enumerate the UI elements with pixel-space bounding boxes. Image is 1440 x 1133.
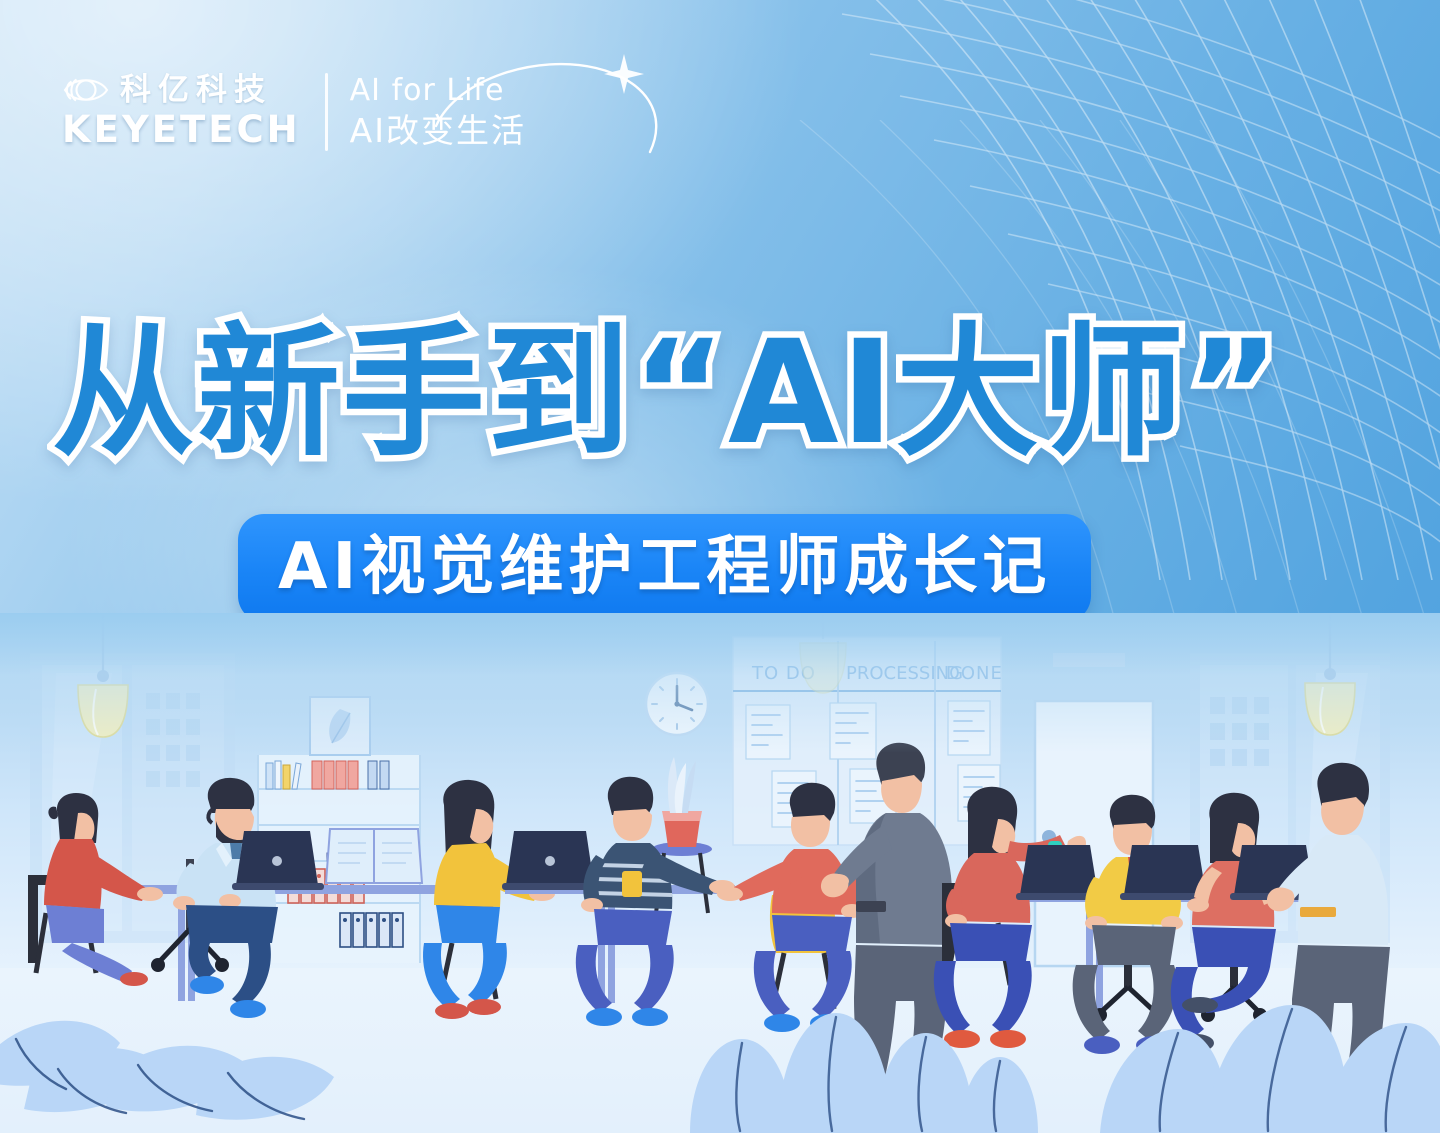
logo-divider (325, 73, 328, 151)
sparkle-icon (604, 54, 644, 94)
kanban-board: TO DO PROCESSING DONE (733, 637, 1003, 845)
logo-left-group: 科亿科技 KEYETECH (62, 73, 301, 151)
eye-lens-icon (62, 73, 110, 107)
logo-company-en: KEYETECH (62, 109, 301, 151)
page-title: 从新手到“AI大师” (52, 318, 1392, 468)
poster-root: 科亿科技 KEYETECH AI for Life AI改变生活 从新手到“AI… (0, 0, 1440, 1133)
svg-text:DONE: DONE (946, 663, 1003, 684)
subtitle-text: AI视觉维护工程师成长记 (278, 530, 1051, 604)
subtitle-banner-wrap: AI视觉维护工程师成长记 (238, 514, 1091, 622)
shelf-books-top (266, 761, 389, 789)
logo-tagline-cn: AI改变生活 (350, 110, 526, 152)
logo-company-cn: 科亿科技 (120, 73, 272, 107)
logo-tagline-group: AI for Life AI改变生活 (350, 72, 526, 152)
mesh-grid-decoration (690, 0, 1440, 580)
subtitle-banner: AI视觉维护工程师成长记 (238, 514, 1091, 622)
laptop-left-1 (232, 831, 324, 890)
open-book-left-desk (326, 829, 422, 883)
logo-top-row: 科亿科技 (62, 73, 301, 107)
logo-tagline-en: AI for Life (350, 72, 526, 110)
wall-clock-main (646, 673, 708, 735)
brand-logo[interactable]: 科亿科技 KEYETECH AI for Life AI改变生活 (62, 72, 526, 152)
cup-left (622, 871, 642, 897)
office-team-meeting-illustration: TO DO PROCESSING DONE (0, 613, 1440, 1133)
framed-leaf-picture (310, 697, 370, 755)
